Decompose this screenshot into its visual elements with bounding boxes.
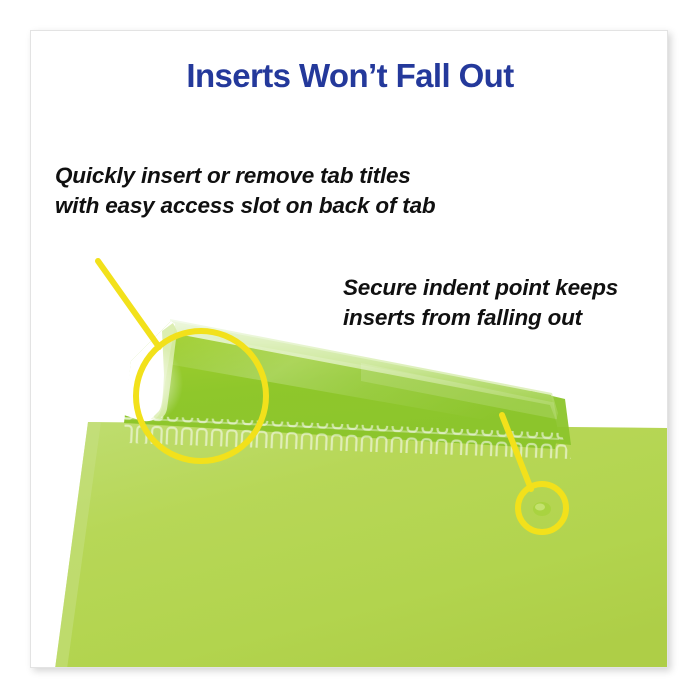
product-photo [31,31,668,668]
annotation-insert-slot: Quickly insert or remove tab titles with… [55,161,435,221]
divider-illustration [31,31,668,668]
divider-body-panel [55,422,668,668]
annotation-secure-indent-point-line-2: inserts from falling out [343,303,618,333]
annotation-insert-slot-line-2: with easy access slot on back of tab [55,191,435,221]
product-feature-card: Inserts Won’t Fall Out Quickly insert or… [30,30,668,668]
page-title: Inserts Won’t Fall Out [31,58,668,94]
annotation-insert-slot-line-1: Quickly insert or remove tab titles [55,161,435,191]
annotation-secure-indent-point-line-1: Secure indent point keeps [343,273,618,303]
annotation-secure-indent-point: Secure indent point keeps inserts from f… [343,273,618,333]
screenshot-canvas: Inserts Won’t Fall Out Quickly insert or… [0,0,700,700]
callout-leader-line-left [98,261,159,347]
